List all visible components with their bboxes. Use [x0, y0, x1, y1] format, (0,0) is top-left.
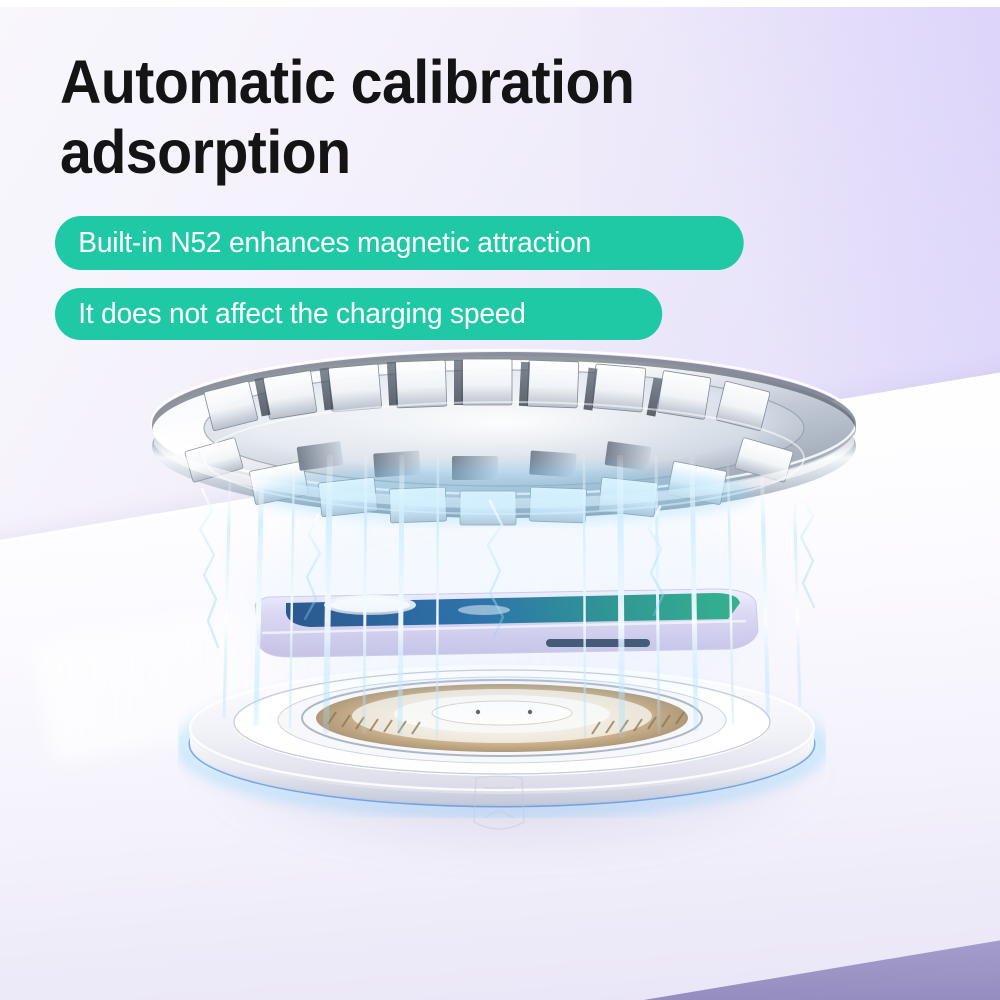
page-title: Automatic calibration adsorption — [60, 48, 774, 187]
poster-canvas: Automatic calibration adsorption Built-i… — [0, 0, 1000, 1000]
feature-badge-charging-speed: It does not affect the charging speed — [55, 288, 662, 340]
embossed-logo-watermark — [466, 772, 532, 840]
magnet-ring — [148, 348, 860, 528]
feature-badge-magnetic-label: Built-in N52 enhances magnetic attractio… — [78, 227, 591, 260]
feature-badge-magnetic: Built-in N52 enhances magnetic attractio… — [55, 216, 744, 270]
background-top-strip — [0, 0, 1000, 7]
feature-badge-charging-speed-label: It does not affect the charging speed — [78, 298, 525, 331]
magnet-ring-illustration — [148, 348, 860, 528]
